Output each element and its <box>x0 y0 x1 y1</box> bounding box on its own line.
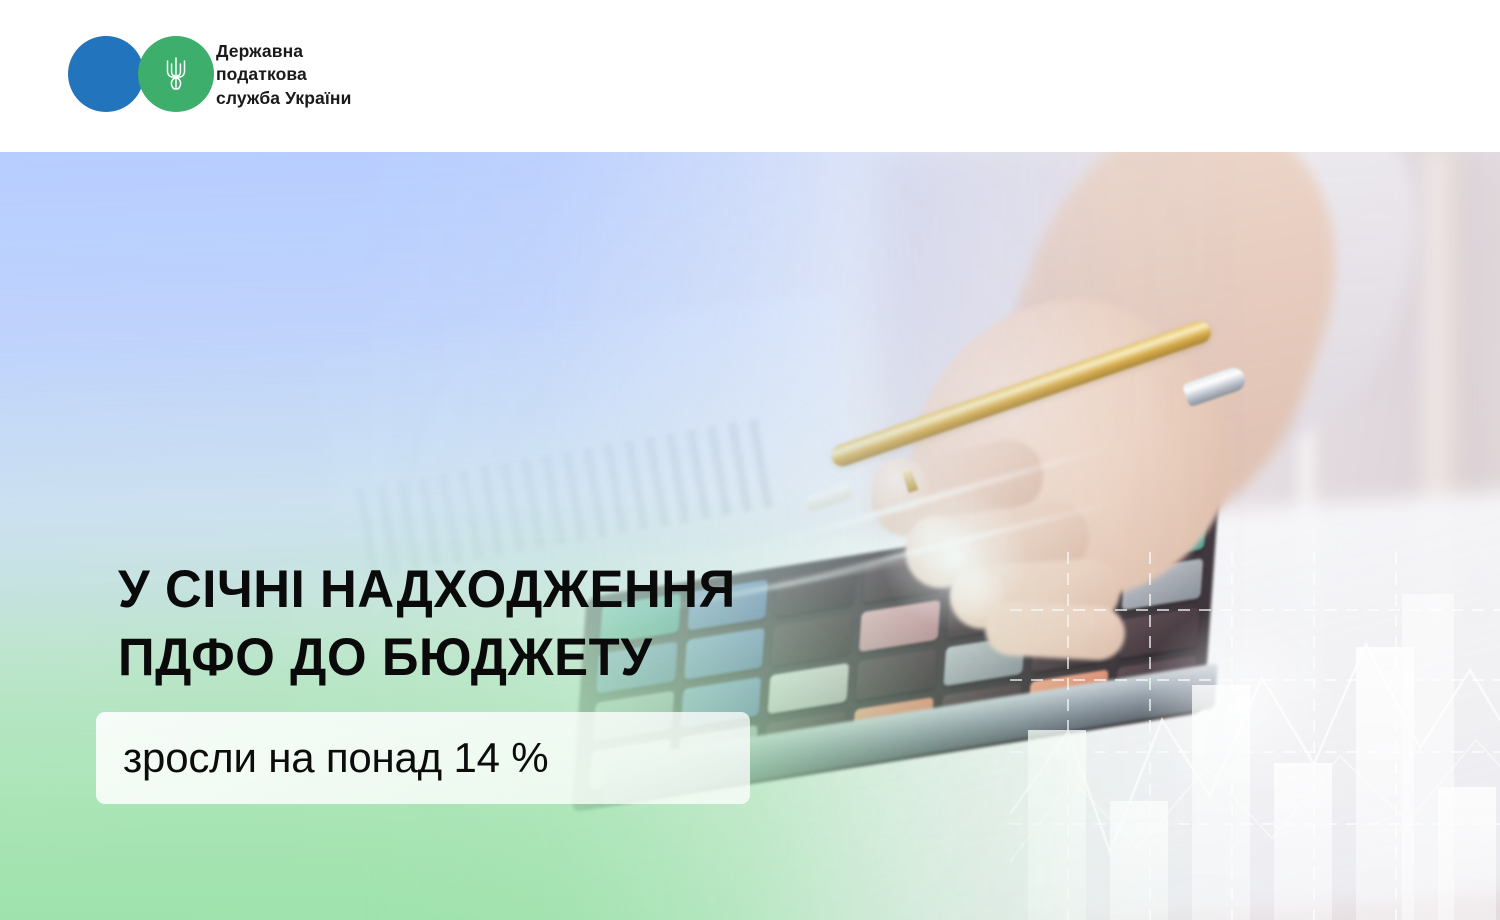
headline-line-1: У СІЧНІ НАДХОДЖЕННЯ <box>118 556 915 624</box>
logo-text-line-3: служба України <box>216 87 351 110</box>
logo-text: Державна податкова служба України <box>216 40 351 109</box>
logo-green-circle-icon <box>138 36 214 112</box>
tax-service-logo[interactable]: Державна податкова служба України <box>68 36 351 114</box>
logo-circles <box>68 36 200 114</box>
hero-banner: У СІЧНІ НАДХОДЖЕННЯ ПДФО ДО БЮДЖЕТУ зрос… <box>0 152 1500 920</box>
logo-text-line-2: податкова <box>216 63 351 86</box>
subtitle-container: зросли на понад 14 % <box>96 712 750 804</box>
headline-line-2: ПДФО ДО БЮДЖЕТУ <box>118 624 915 692</box>
ukraine-trident-icon <box>161 54 191 94</box>
site-header: Державна податкова служба України <box>0 0 1500 152</box>
logo-blue-circle-icon <box>68 36 144 112</box>
page-title: У СІЧНІ НАДХОДЖЕННЯ ПДФО ДО БЮДЖЕТУ <box>118 556 915 692</box>
subtitle-text: зросли на понад 14 % <box>96 734 548 782</box>
logo-text-line-1: Державна <box>216 40 351 63</box>
promo-banner: Державна податкова служба України <box>0 0 1500 920</box>
